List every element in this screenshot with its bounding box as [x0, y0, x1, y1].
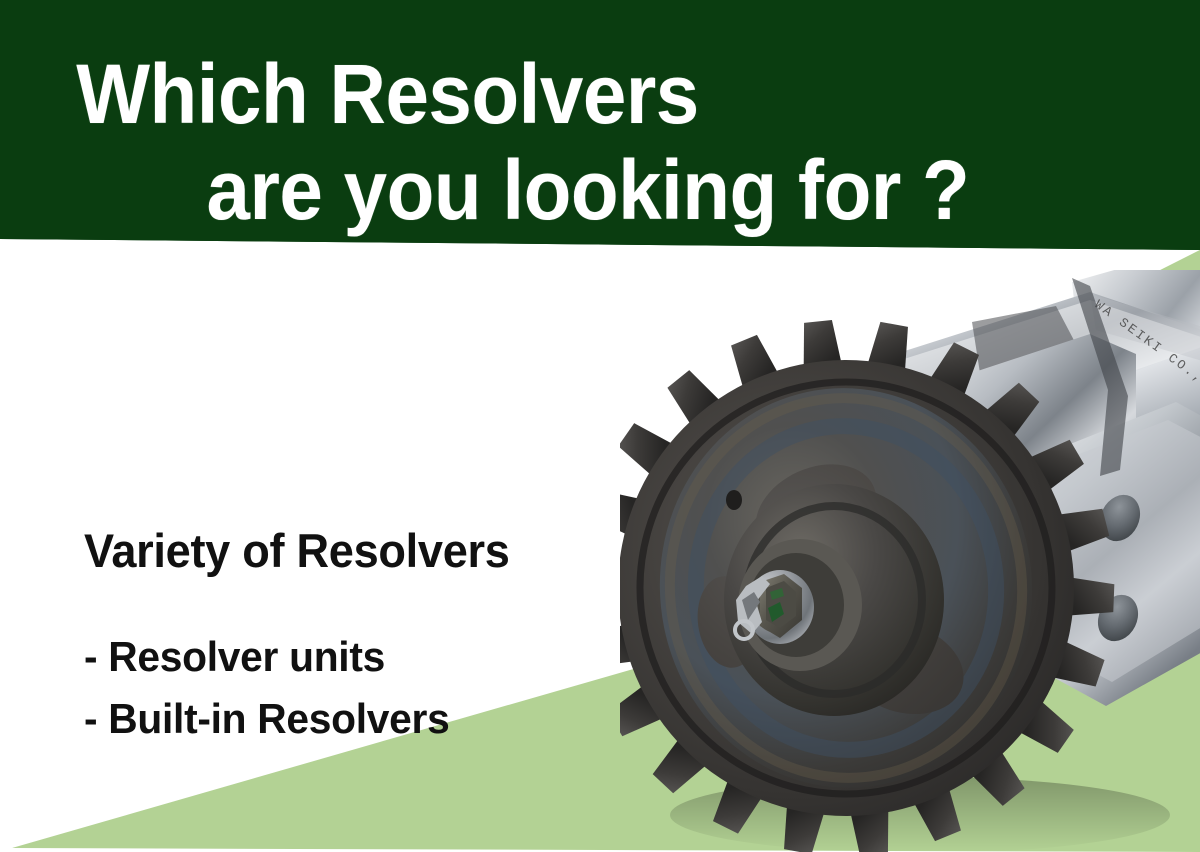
- headline: Which Resolvers are you looking for ?: [0, 46, 1180, 238]
- banner-root: Which Resolvers are you looking for ? Va…: [0, 0, 1200, 852]
- headline-line-1: Which Resolvers: [0, 46, 1097, 142]
- product-photo-svg: WA SEIKI CO., LTD: [620, 270, 1200, 852]
- copy-block: Variety of Resolvers - Resolver units - …: [84, 524, 527, 750]
- list-item: - Resolver units: [84, 626, 514, 688]
- feature-list: - Resolver units - Built-in Resolvers: [84, 626, 527, 750]
- headline-line-2: are you looking for ?: [0, 142, 1097, 238]
- list-item: - Built-in Resolvers: [84, 688, 514, 750]
- web-pin-hole: [726, 490, 742, 510]
- copy-heading: Variety of Resolvers: [84, 524, 510, 578]
- product-photo: WA SEIKI CO., LTD: [620, 270, 1200, 852]
